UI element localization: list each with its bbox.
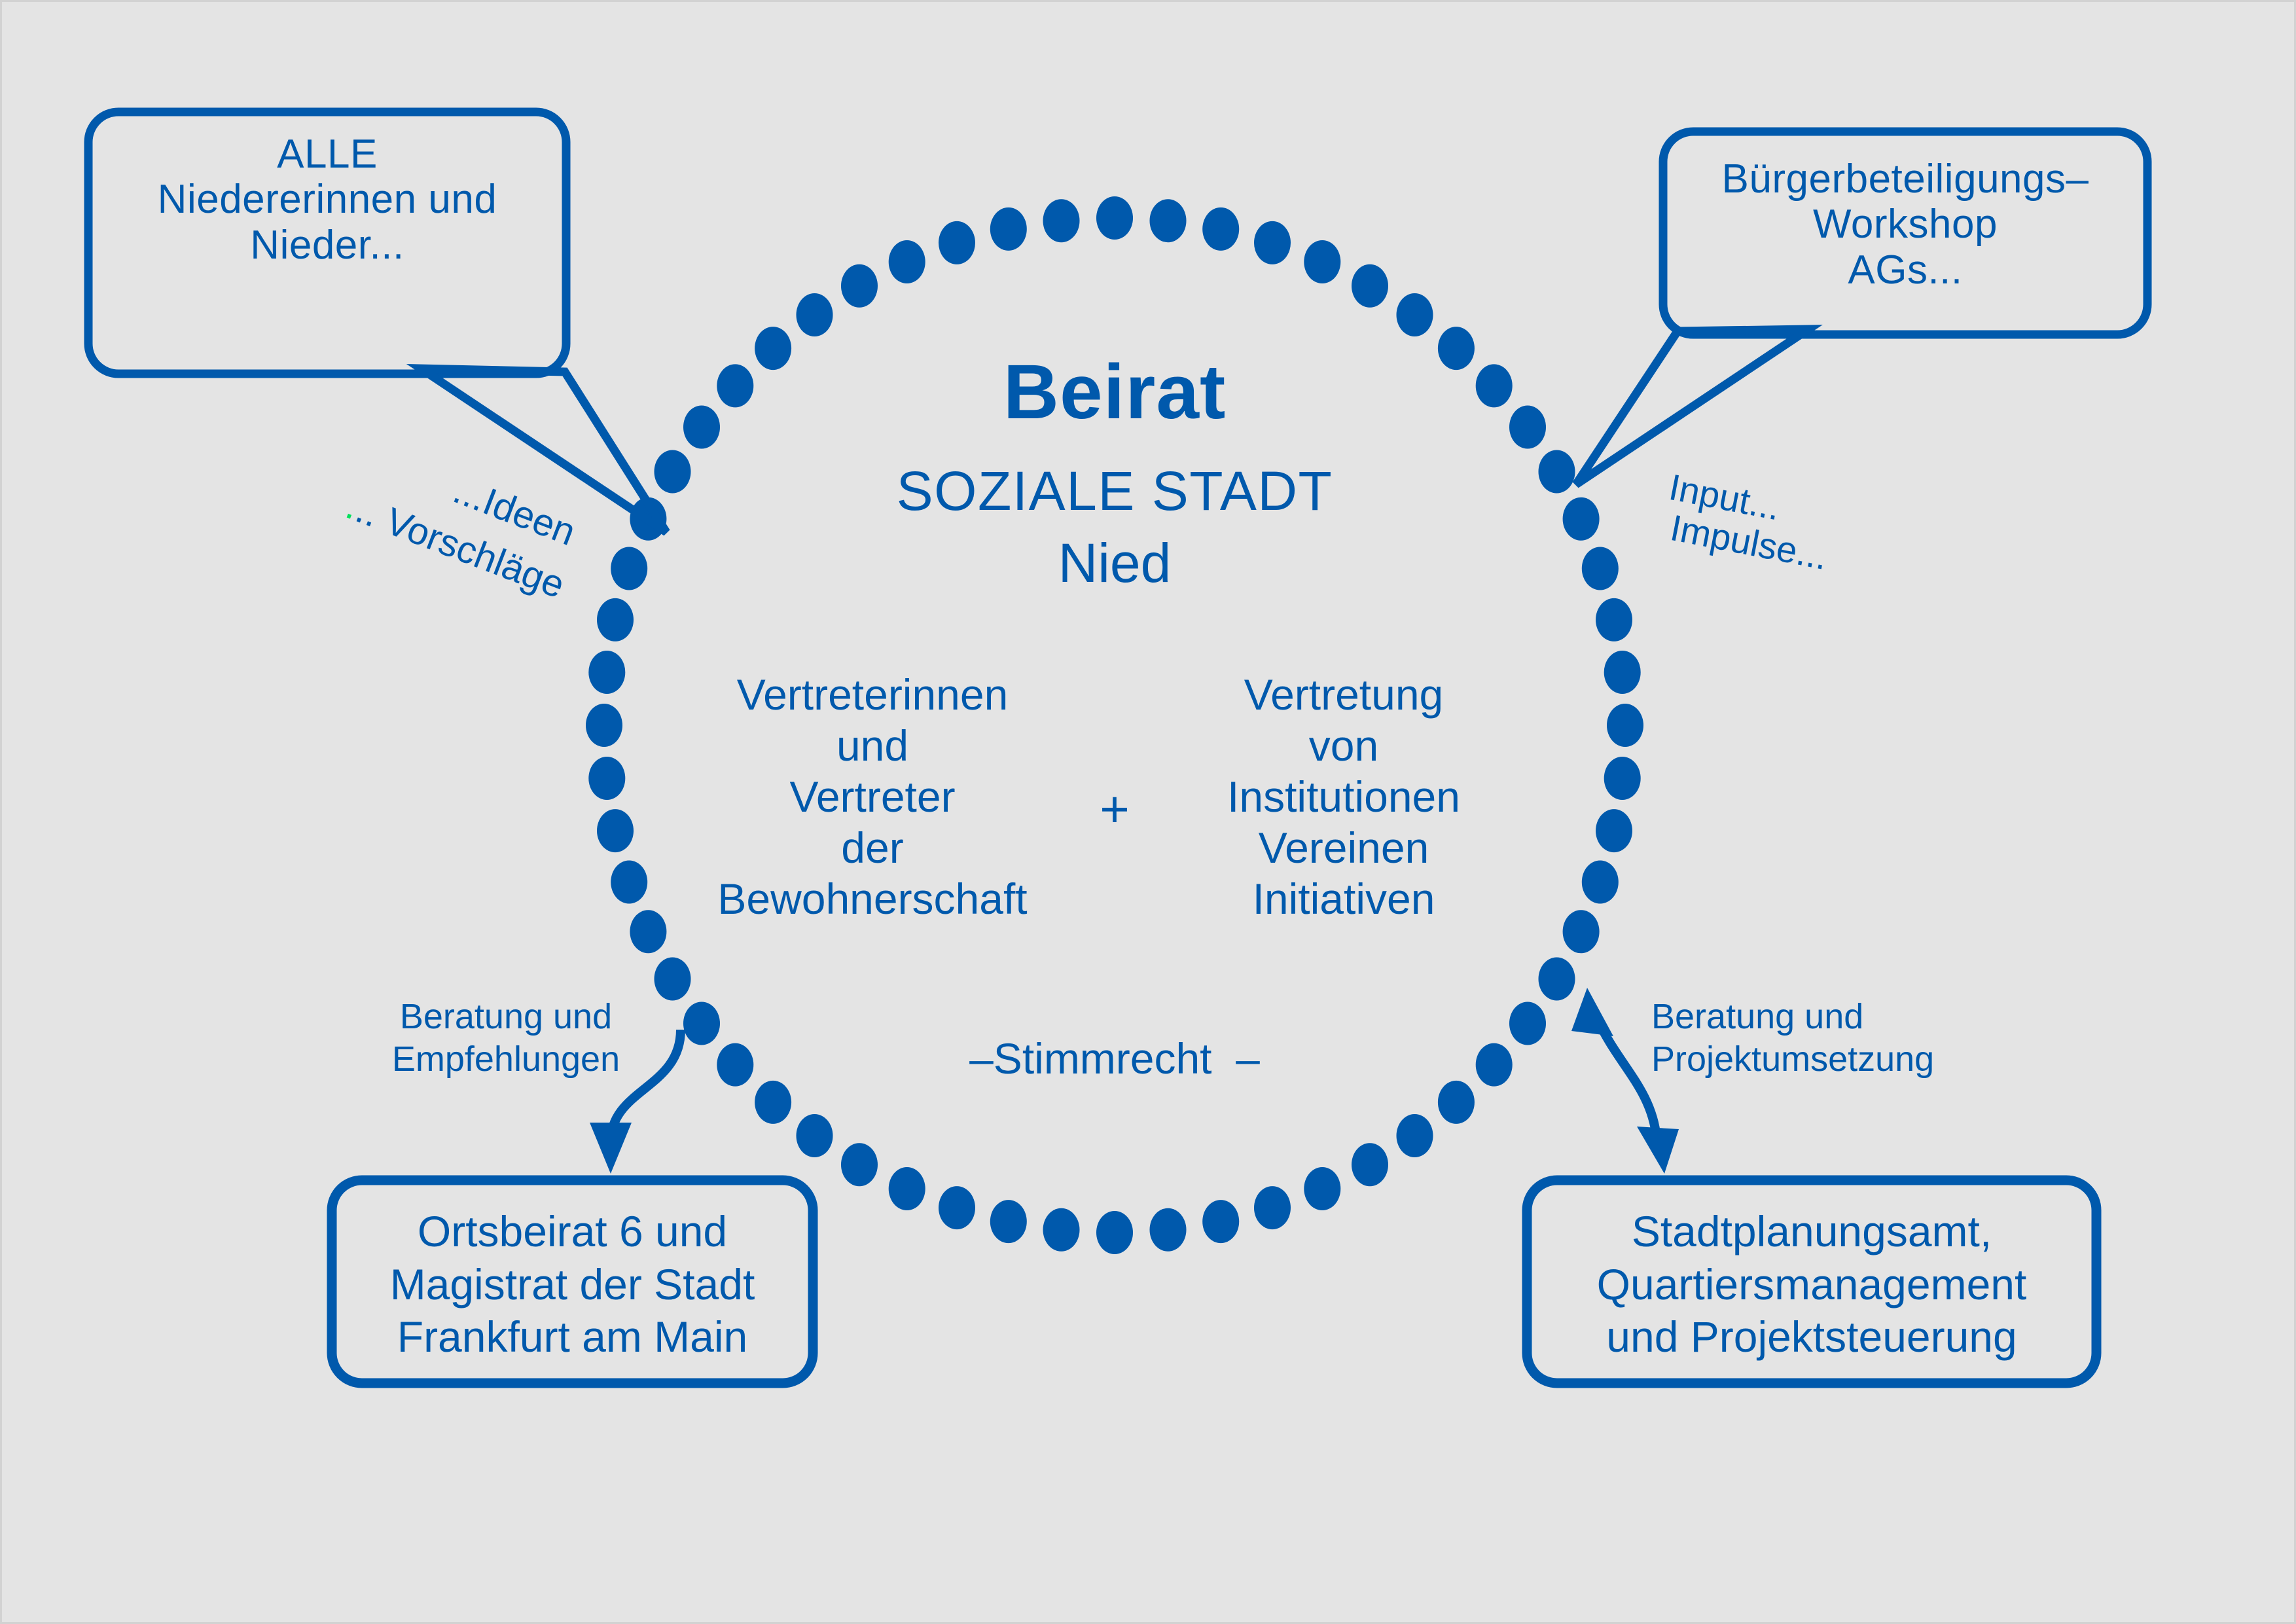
ring-dot — [939, 1186, 975, 1229]
ring-dot — [1202, 208, 1239, 251]
ring-dot — [755, 1081, 791, 1124]
ring-dot — [1607, 704, 1643, 747]
ring-dot — [611, 861, 647, 904]
ring-dot — [990, 1200, 1027, 1243]
ring-dot — [1352, 264, 1388, 308]
center-right-column: Vertretung von Institutionen Vereinen In… — [1180, 670, 1507, 924]
ring-dot — [683, 406, 720, 449]
arrowhead-up-right — [1571, 988, 1613, 1036]
ring-dot — [1254, 221, 1291, 264]
ring-dot — [655, 958, 691, 1001]
ring-dot — [1539, 450, 1575, 494]
ring-dot — [1509, 1002, 1546, 1045]
ring-dot — [1304, 1167, 1340, 1210]
ring-dot — [630, 497, 666, 541]
ring-dot — [1150, 1208, 1187, 1252]
ring-dot — [990, 208, 1027, 251]
ring-dot — [1438, 1081, 1475, 1124]
ring-dot — [1438, 327, 1475, 370]
ring-dot — [1254, 1186, 1291, 1229]
ring-dot — [939, 221, 975, 264]
ring-dot — [841, 264, 878, 308]
ring-dot — [597, 809, 634, 852]
ring-dot — [1096, 1211, 1133, 1254]
arrowhead-down-left — [590, 1123, 632, 1174]
ring-dot — [588, 651, 625, 694]
ring-dot — [889, 1167, 925, 1210]
arrowhead-down-right — [1637, 1127, 1679, 1174]
ring-dot — [1397, 1114, 1433, 1157]
ring-dot — [1563, 497, 1600, 541]
ring-dot — [1476, 364, 1513, 407]
ring-dot — [1397, 293, 1433, 336]
ring-dot — [717, 364, 753, 407]
voting-note: –Stimmrecht – — [918, 1035, 1311, 1083]
ring-dot — [889, 240, 925, 283]
bubble-label-citizens: ALLE Niedererinnen und Nieder... — [101, 132, 553, 268]
ring-dot — [588, 757, 625, 800]
ring-dot — [1476, 1043, 1513, 1087]
ring-dot — [797, 1114, 833, 1157]
box-label-ortsbeirat: Ortsbeirat 6 und Magistrat der Stadt Fra… — [338, 1205, 806, 1363]
center-location: Nied — [820, 532, 1409, 594]
ring-dot — [1582, 547, 1619, 590]
ring-dot — [717, 1043, 753, 1087]
ring-dot — [1304, 240, 1340, 283]
bubble-label-participation: Bürgerbeteiligungs– Workshop AGs... — [1676, 156, 2134, 293]
ring-dot — [755, 327, 791, 370]
ring-dot — [683, 1002, 720, 1045]
center-subtitle: SOZIALE STADT — [820, 460, 1409, 522]
ring-dot — [597, 598, 634, 641]
label-advice-right: Beratung und Projektumsetzung — [1651, 996, 1992, 1081]
ring-dot — [841, 1143, 878, 1186]
diagram-canvas: ALLE Niedererinnen und Nieder... Bürgerb… — [0, 0, 2296, 1624]
ring-dot — [797, 293, 833, 336]
ring-dot — [1596, 809, 1632, 852]
plus-operator: + — [1075, 781, 1154, 838]
bubble-tail-participation — [1576, 329, 1808, 484]
ring-dot — [1352, 1143, 1388, 1186]
box-label-stadtplanungsamt: Stadtplanungsamt, Quartiersmanagement un… — [1534, 1205, 2090, 1363]
ring-dot — [1043, 199, 1080, 242]
ring-dot — [1596, 598, 1632, 641]
ring-dot — [1539, 958, 1575, 1001]
ring-dot — [1096, 196, 1133, 240]
ring-dot — [1509, 406, 1546, 449]
label-advice-left: Beratung und Empfehlungen — [368, 996, 643, 1081]
ring-dot — [655, 450, 691, 494]
ring-dot — [630, 910, 666, 953]
ring-dot — [1043, 1208, 1080, 1252]
ring-dot — [1202, 1200, 1239, 1243]
center-title: Beirat — [820, 349, 1409, 435]
ring-dot — [1563, 910, 1600, 953]
ring-dot — [1150, 199, 1187, 242]
ring-dot — [611, 547, 647, 590]
ring-dot — [586, 704, 622, 747]
ring-dot — [1582, 861, 1619, 904]
center-left-column: Vertreterinnen und Vertreter der Bewohne… — [709, 670, 1036, 924]
ring-dot — [1604, 757, 1641, 800]
ring-dot — [1604, 651, 1641, 694]
